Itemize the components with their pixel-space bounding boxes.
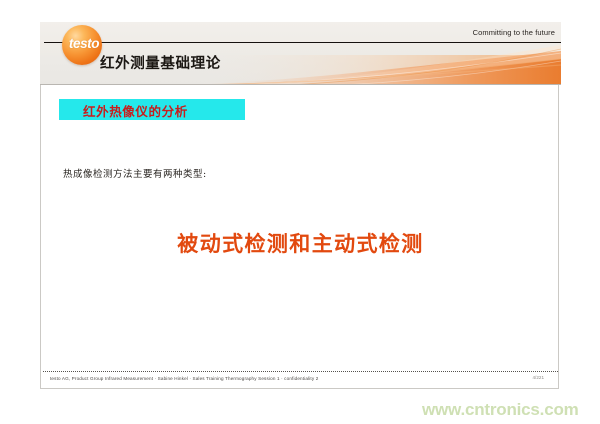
main-headline: 被动式检测和主动式检测 xyxy=(41,228,560,258)
page-title: 红外测量基础理论 xyxy=(100,52,221,73)
page-number: 4/221 xyxy=(533,375,545,380)
section-heading-label: 红外热像仪的分析 xyxy=(83,101,188,120)
footer-divider xyxy=(43,371,558,372)
slide-header-banner: Committing to the future testo 红外测量基础理论 xyxy=(40,22,561,85)
presentation-slide: Committing to the future testo 红外测量基础理论 … xyxy=(40,22,561,390)
lead-paragraph: 热成像检测方法主要有两种类型: xyxy=(63,166,207,180)
brand-tagline: Committing to the future xyxy=(473,28,555,37)
slide-body: 红外热像仪的分析 热成像检测方法主要有两种类型: 被动式检测和主动式检测 tes… xyxy=(40,85,559,389)
footer-credit: testo AG, Product Group Infrared Measure… xyxy=(50,376,318,381)
site-watermark: www.cntronics.com xyxy=(422,400,579,420)
header-divider-rule xyxy=(44,42,561,43)
slide-title-zone: 红外测量基础理论 xyxy=(40,44,561,85)
